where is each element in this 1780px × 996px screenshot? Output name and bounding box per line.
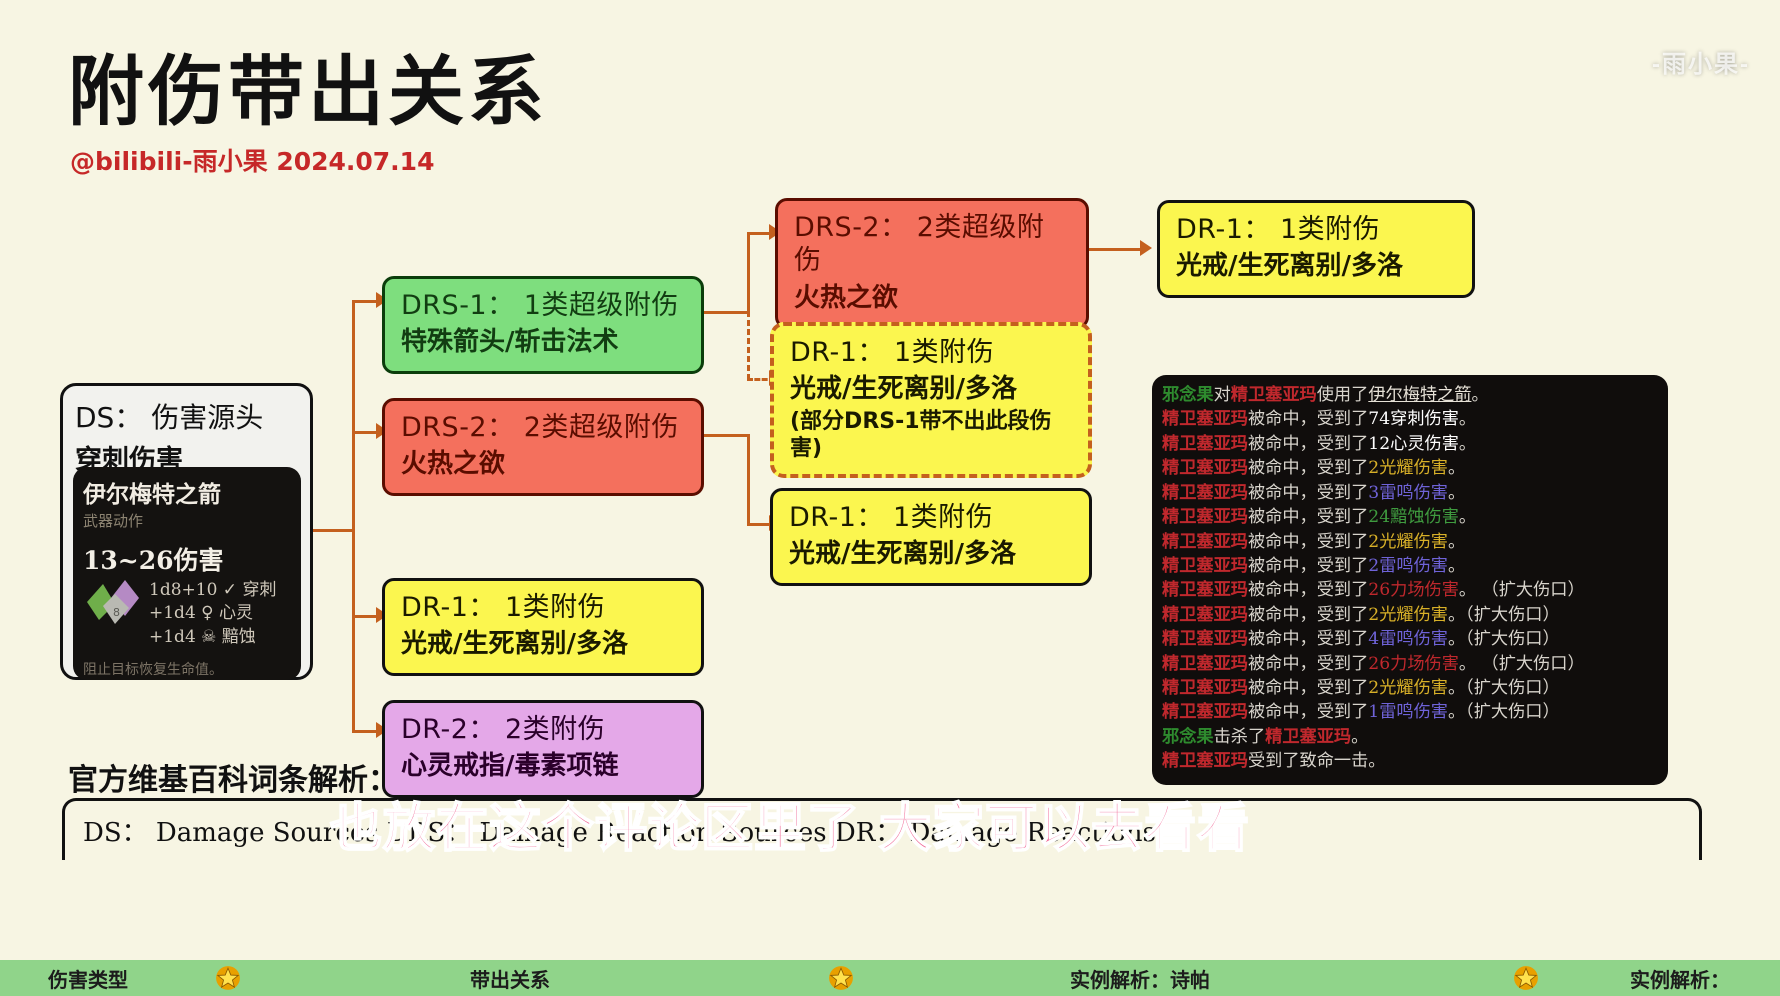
log-segment: 26力场伤害 [1368, 580, 1459, 600]
chapter-progress-bar[interactable]: 伤害类型带出关系实例解析：诗帕实例解析： [0, 960, 1780, 996]
log-segment: 被命中，受到了 [1248, 532, 1368, 552]
weapon-footer-text: 阻止目标恢复生命值。 [83, 659, 291, 679]
combat-log-line: 精卫塞亚玛被命中，受到了2光耀伤害。（扩大伤口） [1162, 676, 1662, 700]
arrow-to-dr1-topright [1140, 240, 1152, 256]
log-segment: 。 （扩大伤口） [1459, 654, 1585, 674]
node-line3: (部分DRS-1带不出此段伤害) [790, 408, 1072, 463]
combat-log-line: 精卫塞亚玛被命中，受到了3雷鸣伤害。 [1162, 481, 1662, 505]
node-dr1-top-right[interactable]: DR-1： 1类附伤 光戒/生死离别/多洛 [1157, 200, 1475, 298]
log-segment: 被命中，受到了 [1248, 483, 1368, 503]
log-segment: 精卫塞亚玛 [1231, 385, 1317, 405]
weapon-damage-row: +1d4 ♀ 心灵 [149, 602, 291, 625]
log-segment: 使用了 [1317, 385, 1369, 405]
log-segment: 精卫塞亚玛 [1162, 580, 1248, 600]
wire-drs2top-out [1087, 248, 1145, 251]
log-segment: 被命中，受到了 [1248, 580, 1368, 600]
chapter-star-icon-0[interactable] [215, 965, 241, 991]
wire-drs2left-down [747, 434, 750, 525]
log-segment: 。 [1351, 727, 1368, 747]
log-segment: 。（扩大伤口） [1448, 629, 1560, 649]
log-segment: 12心灵伤害 [1368, 434, 1459, 454]
log-segment: 精卫塞亚玛 [1265, 727, 1351, 747]
log-segment: 精卫塞亚玛 [1162, 532, 1248, 552]
node-dr1-left[interactable]: DR-1： 1类附伤 光戒/生死离别/多洛 [382, 578, 704, 676]
chapter-label-1[interactable]: 带出关系 [470, 964, 550, 993]
node-line2: 火热之欲 [401, 448, 685, 480]
combat-log-line: 精卫塞亚玛被命中，受到了2光耀伤害。（扩大伤口） [1162, 603, 1662, 627]
chapter-label-3[interactable]: 实例解析： [1630, 964, 1730, 993]
log-segment: 邪念果 [1162, 385, 1214, 405]
log-segment: 24黯蚀伤害 [1368, 507, 1459, 527]
log-segment: 被命中，受到了 [1248, 409, 1368, 429]
log-segment: 。 [1448, 483, 1465, 503]
log-segment: 被命中，受到了 [1248, 507, 1368, 527]
weapon-tooltip: 伊尔梅特之箭 武器动作 13~26伤害 1d8+10 ✓ 穿刺 +1d4 ♀ 心… [73, 467, 301, 680]
wire-drs1-up [747, 232, 750, 312]
combat-log-line: 精卫塞亚玛被命中，受到了4雷鸣伤害。（扩大伤口） [1162, 627, 1662, 651]
log-segment: 被命中，受到了 [1248, 605, 1368, 625]
combat-log-panel: 邪念果对精卫塞亚玛使用了伊尔梅特之箭。精卫塞亚玛被命中，受到了74穿刺伤害。精卫… [1152, 375, 1668, 785]
log-segment: 。 [1448, 556, 1465, 576]
node-line1: DR-1： 1类附伤 [790, 336, 1072, 369]
log-segment: 。（扩大伤口） [1448, 605, 1560, 625]
svg-text:8: 8 [113, 606, 120, 619]
log-segment: 被命中，受到了 [1248, 702, 1368, 722]
combat-log-line: 精卫塞亚玛被命中，受到了2雷鸣伤害。 [1162, 554, 1662, 578]
node-dr1-mid[interactable]: DR-1： 1类附伤 光戒/生死离别/多洛 [770, 488, 1092, 586]
node-line2: 光戒/生死离别/多洛 [790, 373, 1072, 405]
log-segment: 被命中，受到了 [1248, 654, 1368, 674]
log-segment: 26力场伤害 [1368, 654, 1459, 674]
node-line2: 心灵戒指/毒素项链 [401, 750, 685, 782]
node-drs2-top[interactable]: DRS-2： 2类超级附伤 火热之欲 [775, 198, 1089, 329]
weapon-name: 伊尔梅特之箭 [83, 475, 291, 509]
log-segment: 精卫塞亚玛 [1162, 629, 1248, 649]
node-line2: 光戒/生死离别/多洛 [401, 628, 685, 660]
node-line1: DRS-2： 2类超级附伤 [401, 411, 685, 444]
log-segment: 2光耀伤害 [1368, 532, 1448, 552]
log-segment: 1雷鸣伤害 [1368, 702, 1448, 722]
chapter-star-icon-1[interactable] [828, 965, 854, 991]
log-segment: 被命中，受到了 [1248, 629, 1368, 649]
byline-date: 2024.07.14 [276, 147, 434, 176]
log-segment: 被命中，受到了 [1248, 434, 1368, 454]
ds-card-line1: DS： 伤害源头 [75, 396, 298, 436]
weapon-damage-row: 1d8+10 ✓ 穿刺 [149, 579, 291, 602]
combat-log-line: 精卫塞亚玛受到了致命一击。 [1162, 749, 1662, 773]
log-segment: 精卫塞亚玛 [1162, 409, 1248, 429]
slide-canvas: 附伤带出关系 @bilibili-雨小果 2024.07.14 -雨小果- DS… [0, 0, 1780, 960]
log-segment: 精卫塞亚玛 [1162, 678, 1248, 698]
log-segment: 精卫塞亚玛 [1162, 556, 1248, 576]
log-segment: 对 [1214, 385, 1231, 405]
log-segment: 被命中，受到了 [1248, 556, 1368, 576]
node-line1: DR-1： 1类附伤 [401, 591, 685, 624]
log-segment: 被命中，受到了 [1248, 458, 1368, 478]
log-segment: 。（扩大伤口） [1448, 702, 1560, 722]
log-segment: 精卫塞亚玛 [1162, 434, 1248, 454]
chapter-label-0[interactable]: 伤害类型 [48, 964, 128, 993]
node-line1: DRS-2： 2类超级附伤 [794, 211, 1070, 278]
combat-log-line: 精卫塞亚玛被命中，受到了26力场伤害。 （扩大伤口） [1162, 578, 1662, 602]
log-segment: 邪念果 [1162, 727, 1214, 747]
byline: @bilibili-雨小果 2024.07.14 [70, 142, 434, 178]
log-segment: 74穿刺伤害 [1368, 409, 1459, 429]
combat-log-line: 精卫塞亚玛被命中，受到了74穿刺伤害。 [1162, 407, 1662, 431]
combat-log-line: 邪念果击杀了精卫塞亚玛。 [1162, 725, 1662, 749]
combat-log-line: 精卫塞亚玛被命中，受到了26力场伤害。 （扩大伤口） [1162, 652, 1662, 676]
log-segment: 。 [1448, 532, 1465, 552]
log-segment: 精卫塞亚玛 [1162, 605, 1248, 625]
log-segment: 。 [1448, 458, 1465, 478]
weapon-damage-rows: 1d8+10 ✓ 穿刺 +1d4 ♀ 心灵 +1d4 ☠ 黯蚀 [149, 579, 291, 649]
log-segment: 。 （扩大伤口） [1459, 580, 1585, 600]
wire-ds-out [313, 529, 355, 532]
log-segment: 。 [1471, 385, 1488, 405]
node-line1: DR-1： 1类附伤 [789, 501, 1073, 534]
log-segment: 。 [1459, 434, 1476, 454]
log-segment: 伊尔梅特之箭 [1368, 385, 1471, 405]
chapter-label-2[interactable]: 实例解析：诗帕 [1070, 964, 1210, 993]
node-line2: 光戒/生死离别/多洛 [789, 538, 1073, 570]
wire-drs1-dashed-down [747, 311, 750, 380]
node-line2: 特殊箭头/斩击法术 [401, 326, 685, 358]
node-drs2-left[interactable]: DRS-2： 2类超级附伤 火热之欲 [382, 398, 704, 496]
log-segment: 。（扩大伤口） [1448, 678, 1560, 698]
combat-log-line: 邪念果对精卫塞亚玛使用了伊尔梅特之箭。 [1162, 383, 1662, 407]
log-segment: 2雷鸣伤害 [1368, 556, 1448, 576]
wire-trunk-vertical [352, 300, 355, 730]
combat-log-line: 精卫塞亚玛被命中，受到了2光耀伤害。 [1162, 530, 1662, 554]
wire-drs2left-out [702, 434, 750, 437]
node-line1: DR-2： 2类附伤 [401, 713, 685, 746]
weapon-subtitle: 武器动作 [83, 510, 291, 531]
log-segment: 击杀了 [1214, 727, 1266, 747]
log-segment: 受到了致命一击。 [1248, 751, 1386, 771]
log-segment: 4雷鸣伤害 [1368, 629, 1448, 649]
log-segment: 。 [1459, 507, 1476, 527]
weapon-damage-row: +1d4 ☠ 黯蚀 [149, 626, 291, 649]
watermark: -雨小果- [1652, 44, 1750, 79]
log-segment: 精卫塞亚玛 [1162, 507, 1248, 527]
log-segment: 精卫塞亚玛 [1162, 702, 1248, 722]
node-line2: 光戒/生死离别/多洛 [1176, 250, 1456, 282]
log-segment: 2光耀伤害 [1368, 678, 1448, 698]
log-segment: 2光耀伤害 [1368, 458, 1448, 478]
combat-log-line: 精卫塞亚玛被命中，受到了1雷鸣伤害。（扩大伤口） [1162, 700, 1662, 724]
node-line1: DR-1： 1类附伤 [1176, 213, 1456, 246]
danmaku-overlay-text: 也放在这个评论区里了 大家可以去看看 [330, 786, 1250, 861]
log-segment: 被命中，受到了 [1248, 678, 1368, 698]
chapter-star-icon-2[interactable] [1513, 965, 1539, 991]
dice-icon: 8 [85, 572, 147, 628]
log-segment: 精卫塞亚玛 [1162, 751, 1248, 771]
log-segment: 精卫塞亚玛 [1162, 483, 1248, 503]
log-segment: 精卫塞亚玛 [1162, 654, 1248, 674]
node-dr2-left[interactable]: DR-2： 2类附伤 心灵戒指/毒素项链 [382, 700, 704, 798]
combat-log-line: 精卫塞亚玛被命中，受到了24黯蚀伤害。 [1162, 505, 1662, 529]
log-segment: 3雷鸣伤害 [1368, 483, 1448, 503]
page-title: 附伤带出关系 [68, 30, 548, 140]
wire-drs1-out [702, 311, 750, 314]
combat-log-line: 精卫塞亚玛被命中，受到了12心灵伤害。 [1162, 432, 1662, 456]
log-segment: 2光耀伤害 [1368, 605, 1448, 625]
node-dr1-dashed[interactable]: DR-1： 1类附伤 光戒/生死离别/多洛 (部分DRS-1带不出此段伤害) [770, 322, 1092, 478]
combat-log-line: 精卫塞亚玛被命中，受到了2光耀伤害。 [1162, 456, 1662, 480]
byline-author: @bilibili-雨小果 [70, 147, 268, 176]
log-segment: 。 [1459, 409, 1476, 429]
node-drs1[interactable]: DRS-1： 1类超级附伤 特殊箭头/斩击法术 [382, 276, 704, 374]
node-line2: 火热之欲 [794, 282, 1070, 314]
node-line1: DRS-1： 1类超级附伤 [401, 289, 685, 322]
log-segment: 精卫塞亚玛 [1162, 458, 1248, 478]
